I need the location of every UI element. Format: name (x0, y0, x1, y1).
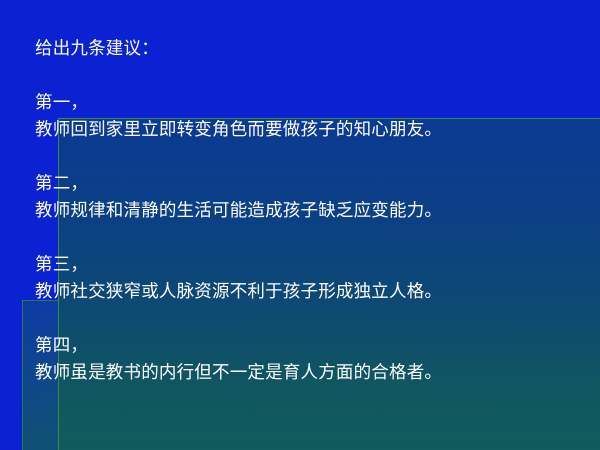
advice-item-3-label: 第三， (35, 252, 586, 279)
spacer (35, 63, 586, 90)
advice-item-1-label: 第一， (35, 90, 586, 117)
advice-item-4-text: 教师虽是教书的内行但不一定是育人方面的合格者。 (35, 360, 586, 387)
advice-item-2-label: 第二， (35, 171, 586, 198)
slide-canvas: 给出九条建议： 第一， 教师回到家里立即转变角色而要做孩子的知心朋友。 第二， … (0, 0, 600, 450)
advice-item-4-label: 第四， (35, 333, 586, 360)
advice-item-1-text: 教师回到家里立即转变角色而要做孩子的知心朋友。 (35, 117, 586, 144)
advice-item-2-text: 教师规律和清静的生活可能造成孩子缺乏应变能力。 (35, 198, 586, 225)
slide-heading: 给出九条建议： (35, 36, 586, 63)
spacer (35, 306, 586, 333)
slide-content: 给出九条建议： 第一， 教师回到家里立即转变角色而要做孩子的知心朋友。 第二， … (0, 0, 600, 450)
spacer (35, 144, 586, 171)
advice-item-3-text: 教师社交狭窄或人脉资源不利于孩子形成独立人格。 (35, 279, 586, 306)
spacer (35, 225, 586, 252)
